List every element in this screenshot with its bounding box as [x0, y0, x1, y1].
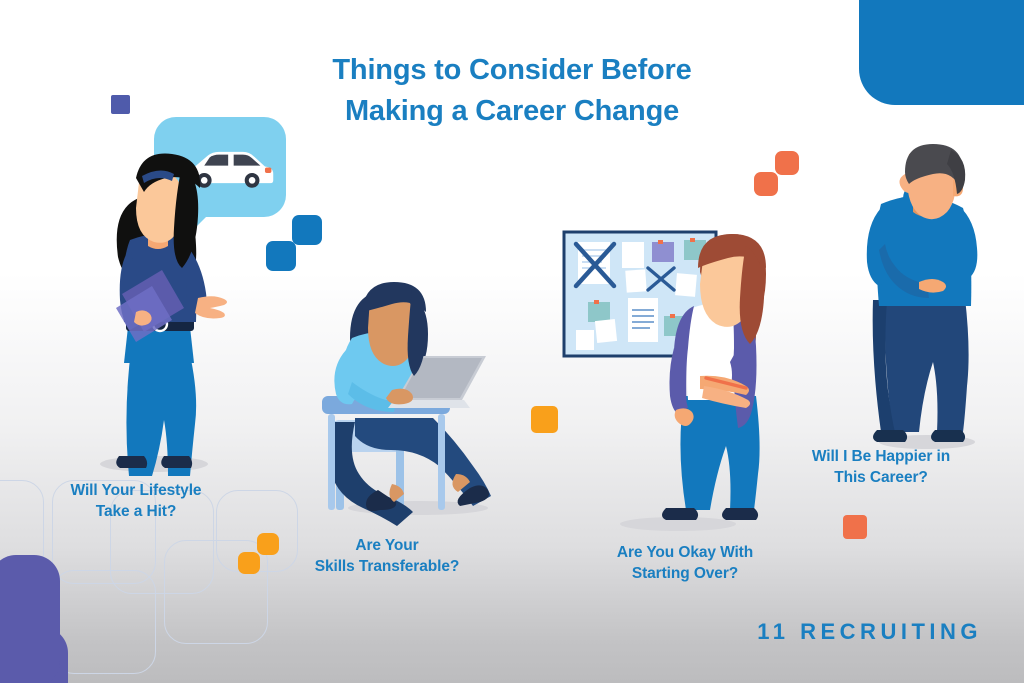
caption-skills-line-1: Are Your	[288, 536, 486, 557]
caption-skills-line-2: Skills Transferable?	[288, 557, 486, 578]
caption-lifestyle-line-2: Take a Hit?	[34, 502, 238, 523]
brand-logo-text: 11 RECRUITING	[757, 619, 982, 645]
illustration-woman-at-desk-with-laptop	[300, 278, 530, 518]
infographic-canvas: Things to Consider Before Making a Caree…	[0, 0, 1024, 683]
title-line-1: Things to Consider Before	[0, 50, 1024, 91]
amber-double-square-motif	[238, 533, 278, 573]
purple-double-square-motif-large	[0, 555, 130, 683]
caption-happier-line-2: This Career?	[784, 468, 978, 489]
orange-square	[843, 515, 867, 539]
caption-skills: Are Your Skills Transferable?	[288, 536, 486, 578]
caption-starting-over: Are You Okay With Starting Over?	[586, 543, 784, 585]
caption-lifestyle: Will Your Lifestyle Take a Hit?	[34, 481, 238, 523]
orange-double-square-motif	[754, 151, 798, 195]
caption-lifestyle-line-1: Will Your Lifestyle	[34, 481, 238, 502]
illustration-man-in-thinking-pose	[855, 142, 995, 452]
caption-starting-over-line-2: Starting Over?	[586, 564, 784, 585]
caption-happier: Will I Be Happier in This Career?	[784, 447, 978, 489]
caption-starting-over-line-1: Are You Okay With	[586, 543, 784, 564]
amber-square	[531, 406, 558, 433]
caption-happier-line-1: Will I Be Happier in	[784, 447, 978, 468]
illustration-woman-with-car-speech-bubble	[78, 112, 288, 472]
illustration-woman-at-planning-board	[560, 228, 780, 533]
